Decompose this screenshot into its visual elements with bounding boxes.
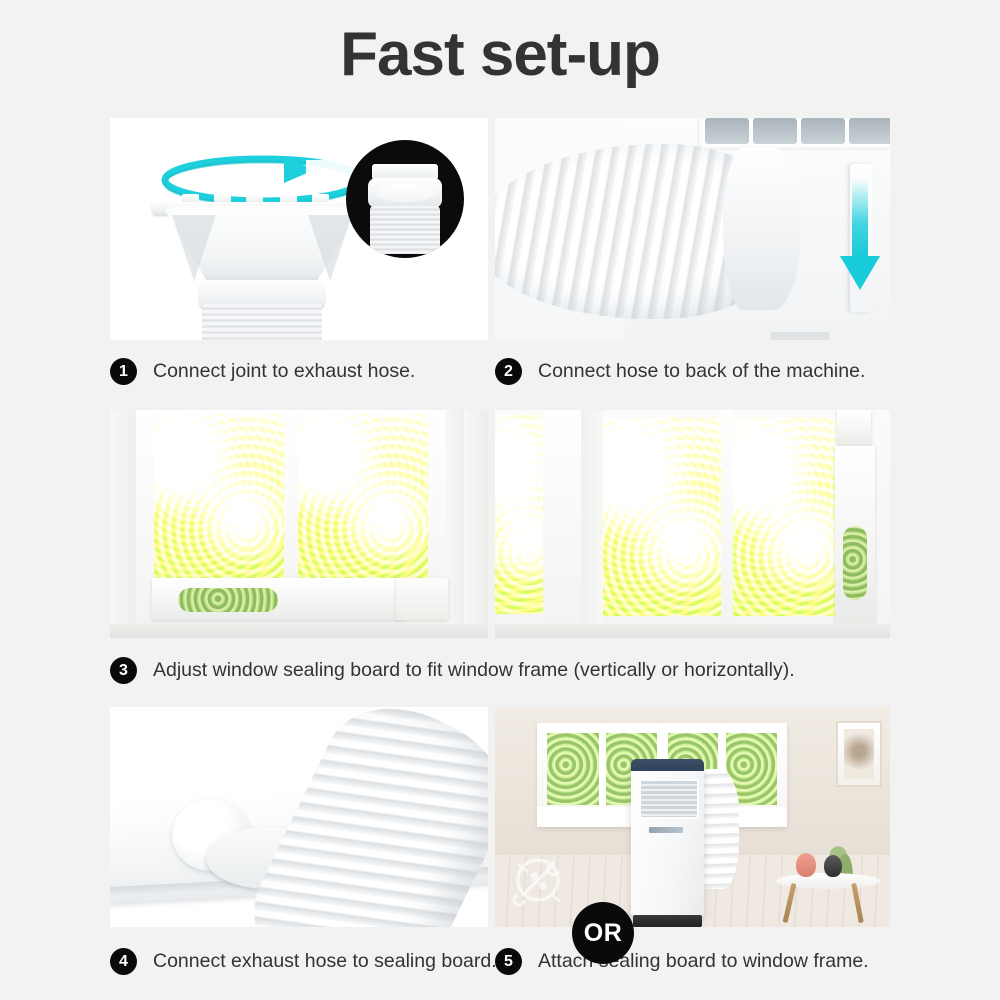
grille-slat — [799, 118, 847, 146]
ac-brand-logo — [649, 827, 683, 833]
step-3-image-horizontal — [110, 410, 488, 638]
wall-art — [836, 721, 882, 787]
ac-foot — [770, 332, 830, 340]
step-text: Connect joint to exhaust hose. — [153, 360, 415, 383]
vase-pink — [796, 853, 816, 877]
step-2-caption: 2 Connect hose to back of the machine. — [495, 358, 895, 385]
step-3-caption: 3 Adjust window sealing board to fit win… — [110, 657, 795, 684]
window-scene-horizontal — [110, 410, 488, 638]
page-title: Fast set-up — [0, 22, 1000, 87]
step-number-badge: 3 — [110, 657, 137, 684]
step-images-row-1 — [110, 118, 890, 340]
grille-slat — [703, 118, 751, 146]
window-glass — [154, 414, 284, 579]
step-captions-row-3: 4 Connect exhaust hose to sealing board.… — [110, 948, 900, 975]
grille-slat — [751, 118, 799, 146]
joint-closeup-inset — [346, 140, 464, 258]
step-captions-row-1: 1 Connect joint to exhaust hose. 2 Conne… — [110, 358, 900, 385]
window-scene-vertical — [495, 410, 890, 638]
wall-art-image — [844, 729, 874, 779]
fast-setup-infographic: Fast set-up — [0, 0, 1000, 1000]
step-2-image — [495, 118, 890, 340]
wall-right — [464, 410, 488, 638]
step-5-caption: 5 Attach sealing board to window frame. — [495, 948, 895, 975]
ac-grille — [697, 118, 890, 150]
step-number-badge: 2 — [495, 358, 522, 385]
window-glass — [298, 414, 428, 579]
window-jamb — [446, 410, 464, 624]
hose-connector-end — [723, 148, 801, 310]
step-number-badge: 1 — [110, 358, 137, 385]
sealing-board-extension — [396, 578, 448, 620]
sealing-board-extension — [837, 410, 871, 446]
portable-air-conditioner — [631, 765, 704, 917]
or-badge: OR — [572, 902, 634, 964]
window-mullion — [543, 410, 581, 624]
window-glass — [603, 418, 721, 616]
ac-vent-grille — [639, 779, 699, 819]
window-sill — [495, 624, 890, 638]
joint-shade — [308, 215, 352, 281]
step-captions-row-2: 3 Adjust window sealing board to fit win… — [110, 657, 900, 684]
window-glass — [733, 418, 837, 616]
step-3-image-vertical — [495, 410, 890, 638]
vase-dark — [824, 855, 842, 877]
sealing-board-port — [178, 588, 278, 612]
step-number-badge: 4 — [110, 948, 137, 975]
window-mullion — [721, 410, 733, 624]
closeup-oval — [376, 184, 434, 202]
no-tools-required-icon — [509, 851, 567, 909]
step-number-badge: 5 — [495, 948, 522, 975]
step-4-caption: 4 Connect exhaust hose to sealing board. — [110, 948, 495, 975]
step-1-caption: 1 Connect joint to exhaust hose. — [110, 358, 495, 385]
sealing-board-port — [843, 526, 867, 600]
joint-shade — [172, 215, 216, 281]
step-text: Connect exhaust hose to sealing board. — [153, 950, 497, 973]
step-images-row-3 — [110, 707, 890, 927]
window-mullion — [581, 410, 603, 624]
step-1-image — [110, 118, 488, 340]
step-text: Connect hose to back of the machine. — [538, 360, 865, 383]
step-4-image — [110, 707, 488, 927]
ac-control-panel — [631, 759, 704, 771]
step-5-image — [495, 707, 890, 927]
wall-edge — [110, 410, 136, 638]
down-arrow-icon — [838, 178, 882, 298]
window-glass — [495, 414, 543, 614]
window-sill — [110, 624, 488, 638]
ac-base — [633, 915, 702, 927]
closeup-hose — [370, 206, 440, 254]
step-images-row-2: OR — [110, 410, 890, 638]
window-glass — [547, 733, 599, 805]
joint-hose-stub — [202, 304, 322, 340]
step-text: Adjust window sealing board to fit windo… — [153, 659, 795, 682]
grille-slat — [847, 118, 890, 146]
window-mullion — [599, 727, 606, 811]
